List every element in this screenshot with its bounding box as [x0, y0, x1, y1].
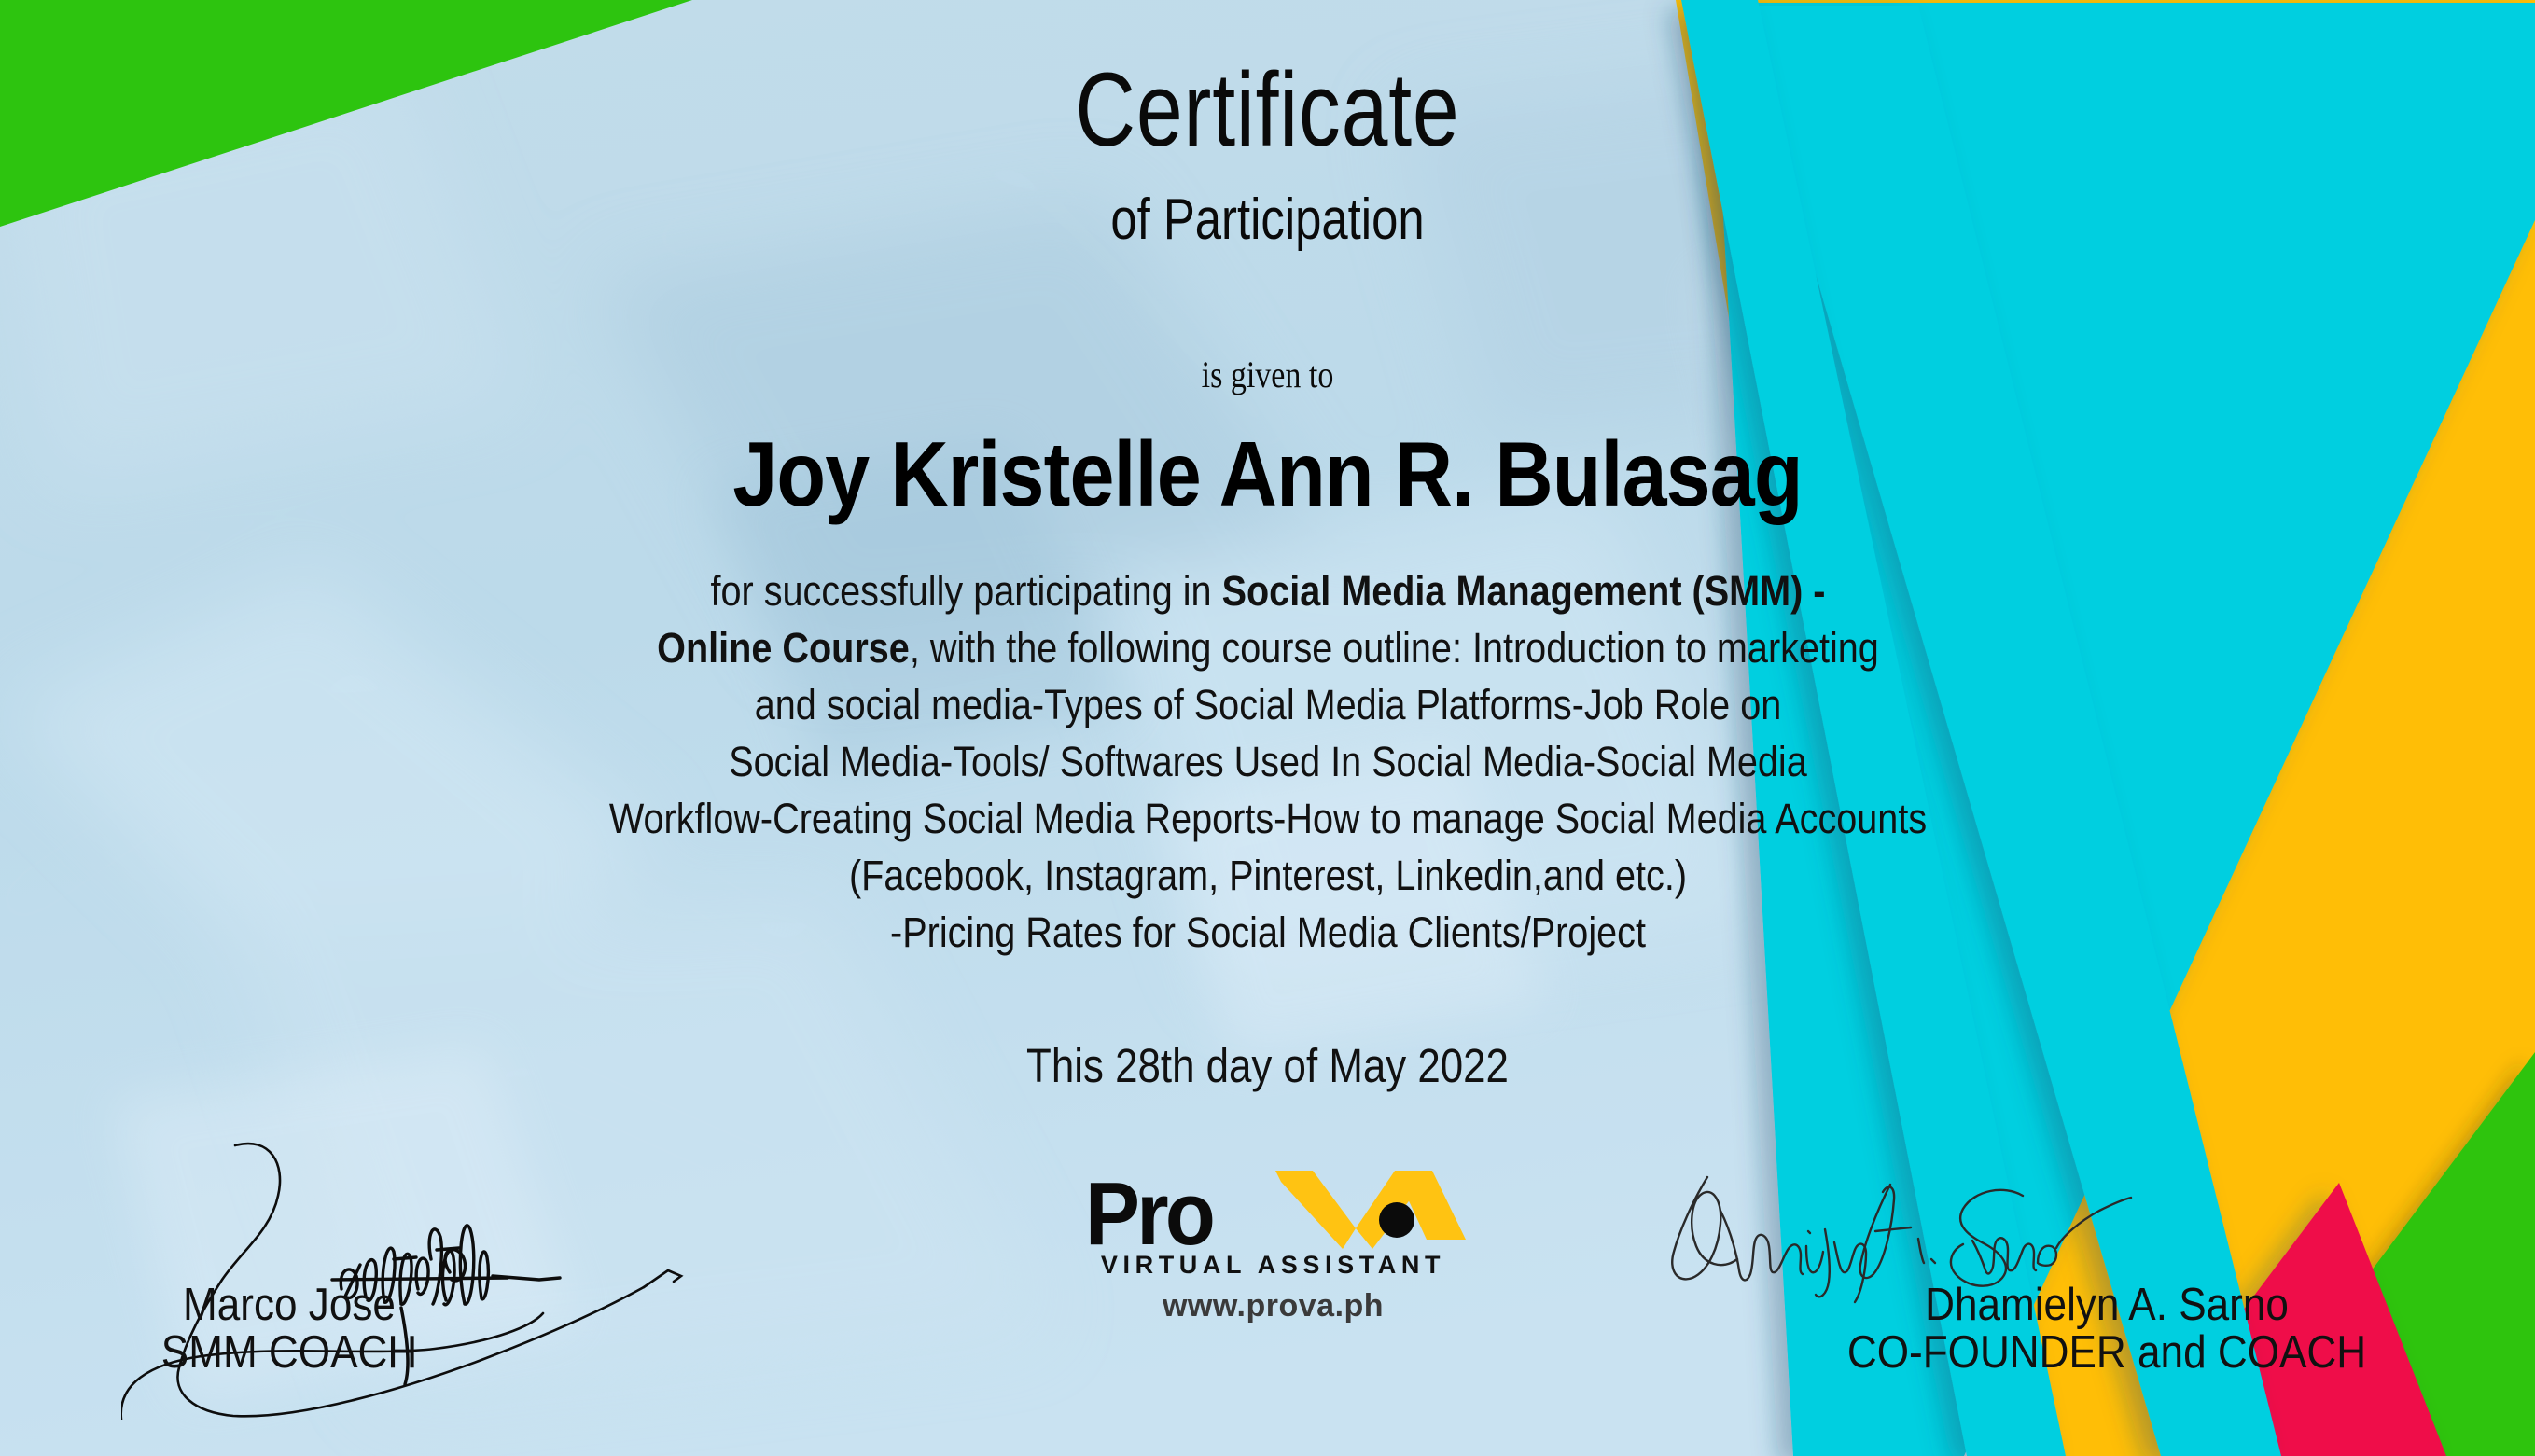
logo-wordmark: Pro [1068, 1169, 1479, 1249]
signatory-name: Dhamielyn A. Sarno [1788, 1282, 2426, 1328]
page-title: Certificate [254, 58, 2282, 162]
logo-url: www.prova.ph [1068, 1288, 1479, 1324]
signatory-role: SMM COACH [54, 1328, 524, 1377]
body-line: for successfully participating in Social… [418, 562, 2118, 619]
logo-va-mark [1275, 1171, 1466, 1249]
signature-block-right: Dhamielyn A. Sarno CO-FOUNDER and COACH [1752, 1282, 2461, 1378]
body-line: Social Media-Tools/ Softwares Used In So… [418, 733, 2118, 790]
body-line: Workflow-Creating Social Media Reports-H… [418, 790, 2118, 847]
body-line: Online Course, with the following course… [418, 619, 2118, 676]
page-subtitle: of Participation [229, 187, 2307, 253]
signatory-name: Marco Jose [54, 1282, 524, 1328]
recipient-name: Joy Kristelle Ann R. Bulasag [152, 422, 2383, 527]
body-line: and social media-Types of Social Media P… [418, 676, 2118, 733]
signature-block-left: Marco Jose SMM COACH [28, 1282, 550, 1378]
body-copy: for successfully participating in Social… [418, 562, 2118, 961]
prova-logo: Pro VIRTUAL ASSISTANT www.prova.ph [1068, 1169, 1479, 1324]
body-line: -Pricing Rates for Social Media Clients/… [418, 904, 2118, 961]
certificate-canvas: Certificate of Participation is given to… [0, 0, 2535, 1456]
given-to-label: is given to [190, 353, 2345, 396]
signatory-role: CO-FOUNDER and COACH [1788, 1328, 2426, 1377]
date-line: This 28th day of May 2022 [177, 1038, 2358, 1093]
logo-text-pro: Pro [1085, 1163, 1212, 1266]
body-line: (Facebook, Instagram, Pinterest, Linkedi… [418, 847, 2118, 904]
